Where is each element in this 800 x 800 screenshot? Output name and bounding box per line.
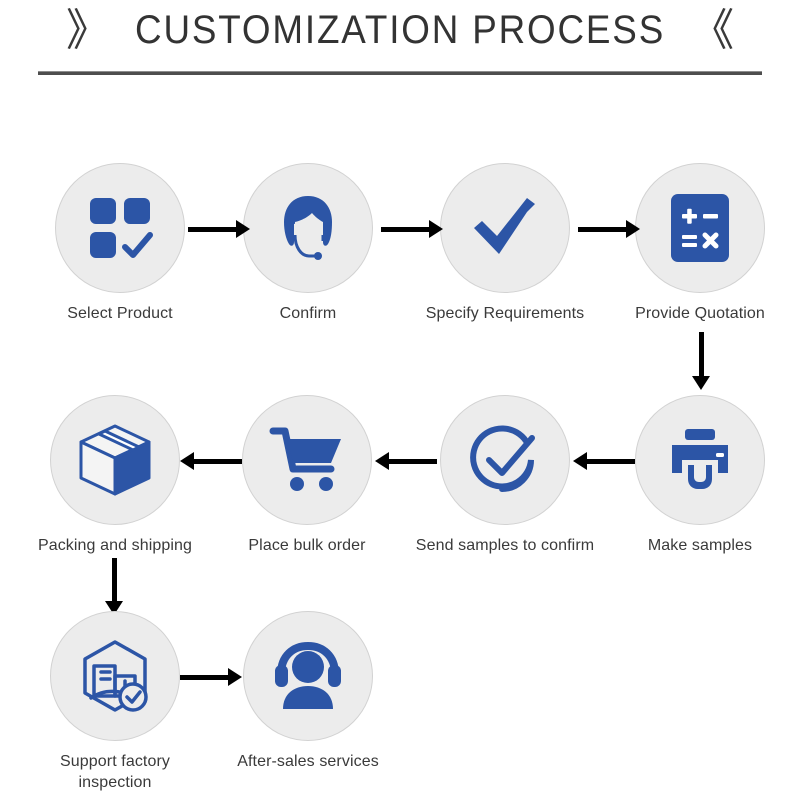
step-node-specify-requirements[interactable]: Specify Requirements (430, 163, 580, 324)
step-node-packing-and-shipping[interactable]: Packing and shipping (40, 395, 190, 556)
connector-arrow-right (180, 666, 242, 686)
step-icon-circle (440, 163, 570, 293)
step-label: Send samples to confirm (390, 535, 620, 556)
arrow-head (180, 452, 194, 470)
arrow-shaft (578, 227, 628, 232)
package-box-icon (77, 422, 153, 498)
connector-arrow-right (188, 218, 250, 238)
arrow-shaft (180, 675, 230, 680)
printer-icon (664, 427, 736, 493)
arrow-shaft (585, 459, 635, 464)
step-label: After-sales services (203, 751, 413, 772)
arrow-shaft (192, 459, 242, 464)
step-icon-circle (50, 611, 180, 741)
title-row: 》CUSTOMIZATION PROCESS《 (0, 8, 800, 53)
step-node-provide-quotation[interactable]: Provide Quotation (625, 163, 775, 324)
connector-arrow-down (690, 332, 710, 390)
shopping-cart-icon (269, 425, 345, 495)
step-label: Specify Requirements (400, 303, 610, 324)
circle-check-icon (468, 423, 542, 497)
calculator-icon (669, 192, 731, 264)
step-icon-circle (243, 163, 373, 293)
connector-arrow-right (381, 218, 443, 238)
step-node-support-factory-inspection[interactable]: Support factory inspection (40, 611, 190, 793)
connector-arrow-left (180, 450, 242, 470)
header-divider (38, 71, 762, 75)
arrow-shaft (387, 459, 437, 464)
arrow-shaft (381, 227, 431, 232)
step-icon-circle (635, 395, 765, 525)
page-header: 》CUSTOMIZATION PROCESS《 (0, 0, 800, 92)
checkmark-icon (469, 192, 541, 264)
step-label: Place bulk order (202, 535, 412, 556)
step-label: Select Product (45, 303, 195, 324)
chevron-right-double-icon: 》 (66, 9, 110, 53)
arrow-head (429, 220, 443, 238)
arrow-shaft (699, 332, 704, 378)
step-icon-circle (243, 611, 373, 741)
step-node-confirm[interactable]: Confirm (233, 163, 383, 324)
arrow-head (692, 376, 710, 390)
step-label: Confirm (233, 303, 383, 324)
step-icon-circle (635, 163, 765, 293)
headset-agent-icon (271, 191, 345, 265)
factory-inspection-icon (77, 638, 153, 714)
step-label: Make samples (595, 535, 800, 556)
step-icon-circle (50, 395, 180, 525)
connector-arrow-left (375, 450, 437, 470)
step-node-select-product[interactable]: Select Product (45, 163, 195, 324)
step-icon-circle (242, 395, 372, 525)
step-label: Support factory inspection (40, 751, 190, 793)
step-node-make-samples[interactable]: Make samples (625, 395, 775, 556)
grid-check-icon (87, 195, 153, 261)
arrow-shaft (188, 227, 238, 232)
step-icon-circle (55, 163, 185, 293)
step-label: Provide Quotation (595, 303, 800, 324)
arrow-head (626, 220, 640, 238)
customer-support-icon (271, 641, 345, 711)
step-node-place-bulk-order[interactable]: Place bulk order (232, 395, 382, 556)
arrow-head (236, 220, 250, 238)
arrow-shaft (112, 558, 117, 603)
page-title: CUSTOMIZATION PROCESS (135, 8, 665, 53)
step-label: Packing and shipping (0, 535, 230, 556)
step-icon-circle (440, 395, 570, 525)
arrow-head (228, 668, 242, 686)
step-node-send-samples-to-confirm[interactable]: Send samples to confirm (430, 395, 580, 556)
step-node-after-sales-services[interactable]: After-sales services (233, 611, 383, 772)
connector-arrow-left (573, 450, 635, 470)
chevron-left-double-icon: 《 (690, 9, 734, 53)
connector-arrow-right (578, 218, 640, 238)
arrow-head (573, 452, 587, 470)
arrow-head (375, 452, 389, 470)
connector-arrow-down (103, 558, 123, 615)
